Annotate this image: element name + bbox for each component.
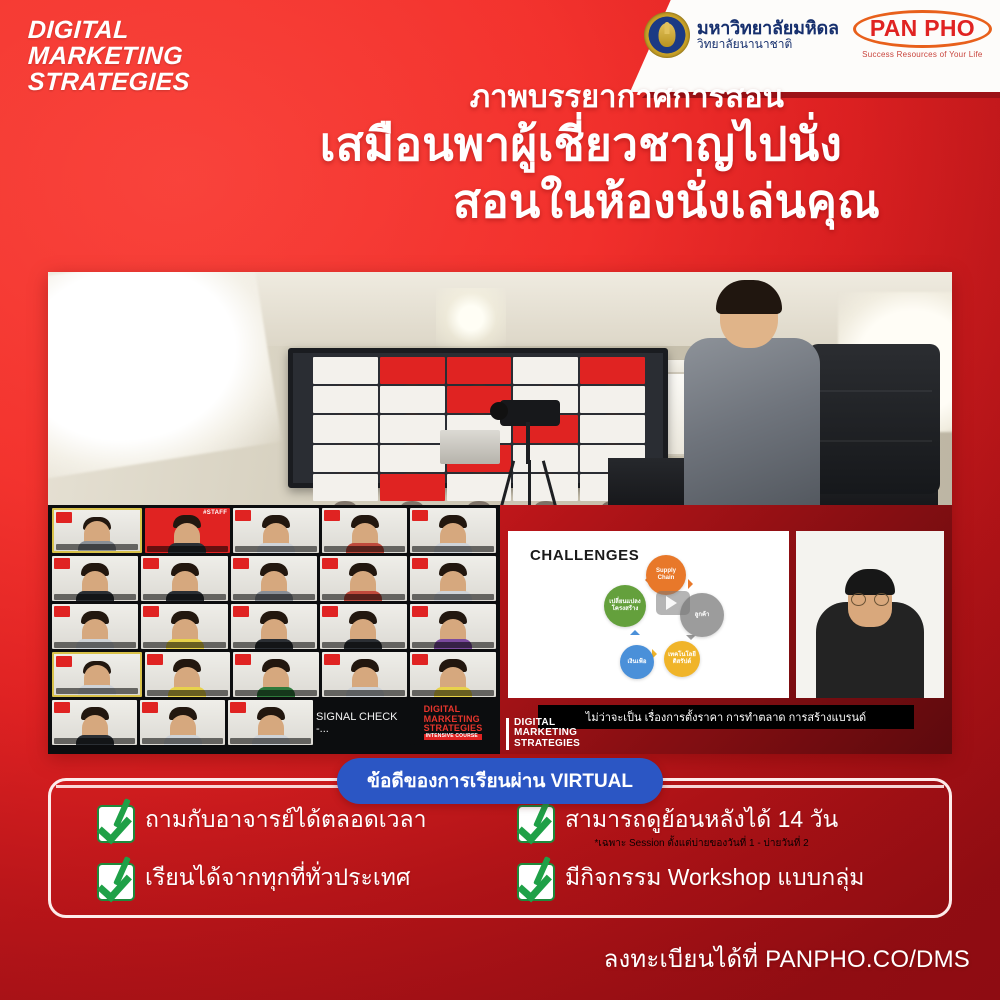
tile-nameplate [322,594,404,600]
instructor-hair [716,280,782,314]
tile-logo-tag [54,558,70,569]
tile-logo-tag [147,510,163,521]
watermark-line-2: MARKETING [514,727,577,738]
gallery-tile [140,700,225,745]
panpho-ellipse-icon: PAN PHO [853,10,992,48]
monitor-tile [313,445,378,472]
mahidol-sub-th: วิทยาลัยนานาชาติ [697,38,839,51]
gallery-tile [52,700,137,745]
tile-logo-tag [412,510,428,521]
check-icon [517,805,555,843]
monitor-tile [380,386,445,413]
mahidol-name: มหาวิทยาลัยมหิดล วิทยาลัยนานาชาติ [697,18,839,52]
tile-logo-tag [412,606,428,617]
tile-nameplate [54,594,136,600]
monitor-tile [313,386,378,413]
benefit-text: สามารถดูย้อนหลังได้ 14 วัน [565,803,838,834]
slide-subtitle: ไม่ว่าจะเป็น เรื่องการตั้งราคา การทำตลาด… [538,705,914,729]
tile-logo-tag [412,654,428,665]
tile-nameplate [142,738,223,744]
ceiling-light-icon [436,288,506,348]
bubble-inflation: เงินเฟ้อ [620,645,654,679]
tile-nameplate [412,690,494,696]
tile-logo-tag [54,606,70,617]
bubble-structural-change: เปลี่ยนแปลง โครงสร้าง [604,585,646,627]
benefit-text: มีกิจกรรม Workshop แบบกลุ่ม [565,861,864,892]
tile-logo-tag [143,606,159,617]
staff-tag: #STAFF [203,510,227,516]
tile-logo-tag [143,558,159,569]
tile-nameplate [56,544,138,550]
benefit-text: เรียนได้จากทุกที่ทั่วประเทศ [145,861,411,892]
promo-poster: DIGITAL MARKETING STRATEGIES มหาวิทยาลัย… [0,0,1000,1000]
tile-nameplate [412,546,494,552]
instructor-figure [678,280,833,505]
gallery-tile [52,508,142,553]
monitor-tile [313,474,378,501]
diagram-arrow [630,625,640,635]
registration-cta[interactable]: ลงทะเบียนได้ที่ PANPHO.CO/DMS [604,939,970,978]
tile-logo-tag [235,510,251,521]
benefit-note: *เฉพาะ Session ตั้งแต่บ่ายของวันที่ 1 - … [565,836,838,851]
diagram-arrow [688,579,698,589]
gallery-tile [233,508,319,553]
monitor-tile [380,357,445,384]
brand-line-1: DIGITAL [27,18,190,44]
gallery-tile [410,604,496,649]
tile-logo-tag [56,656,72,667]
tile-nameplate [233,594,315,600]
play-button-icon[interactable] [656,591,690,615]
gallery-tile [52,556,138,601]
gallery-tile [231,604,317,649]
tile-nameplate [54,738,135,744]
headline: ภาพบรรยากาศการสอน เสมือนพาผู้เชี่ยวชาญไป… [120,78,880,230]
gallery-tile: #STAFF [145,508,231,553]
tile-logo-tag [322,558,338,569]
instructor-body [684,338,820,505]
gallery-tile [410,508,496,553]
headline-line-1: ภาพบรรยากาศการสอน [120,78,880,116]
dms-tile-line-3: STRATEGIES [424,724,483,733]
monitor-tile [380,474,445,501]
gallery-tile [141,604,227,649]
gallery-tile [322,652,408,697]
benefits-grid: ถามกับอาจารย์ได้ตลอดเวลา สามารถดูย้อนหลั… [97,803,931,901]
tripod-leg [500,460,515,505]
tile-logo-tag [56,512,72,523]
tile-nameplate [235,546,317,552]
tile-nameplate [324,546,406,552]
bubble-supply-chain: Supply Chain [646,555,686,595]
signal-check-tile: SIGNAL CHECK -... [316,700,411,745]
monitor-tile [513,357,578,384]
panpho-logo: PAN PHO Success Resources of Your Life [853,10,992,59]
benefit-item: มีกิจกรรม Workshop แบบกลุ่ม [517,861,931,901]
dms-logo-tile: DIGITAL MARKETING STRATEGIES INTENSIVE C… [414,700,492,745]
tile-logo-tag [235,654,251,665]
gallery-tile [322,508,408,553]
gallery-tile [320,556,406,601]
mahidol-logo: มหาวิทยาลัยมหิดล วิทยาลัยนานาชาติ [644,12,839,58]
tile-nameplate [412,594,494,600]
tile-logo-tag [412,558,428,569]
tile-logo-tag [230,702,246,713]
monitor-tile [313,357,378,384]
gallery-tile [231,556,317,601]
tile-nameplate [54,642,136,648]
speaker-hair [845,569,895,595]
tile-logo-tag [324,654,340,665]
tile-nameplate [230,738,311,744]
gallery-tile [141,556,227,601]
gallery-row: #STAFF [52,508,496,553]
mahidol-seal-icon [644,12,690,58]
monitor-tile [580,386,645,413]
tile-nameplate [233,642,315,648]
gallery-tile [52,604,138,649]
headline-line-3: สอนในห้องนั่งเล่นคุณ [120,173,880,230]
benefits-badge: ข้อดีของการเรียนผ่าน VIRTUAL [337,758,663,804]
gallery-row [52,604,496,649]
speaker-glasses-icon [851,593,889,604]
gallery-tile [320,604,406,649]
check-icon [97,805,135,843]
gallery-row [52,652,496,697]
gallery-row: SIGNAL CHECK -... DIGITAL MARKETING STRA… [52,700,496,745]
tripod-leg [542,460,557,505]
webinar-slide-panel: CHALLENGES Supply Chain ลูกค้า เทคโนโลยี… [500,505,952,754]
tile-logo-tag [54,702,70,713]
photo-collage: #STAFF [48,272,952,754]
gallery-tile [228,700,313,745]
brand-line-2: MARKETING [27,44,190,70]
monitor-tile [580,415,645,442]
bubble-technology: เทคโนโลยี ดิสรัปต์ [664,641,700,677]
challenges-slide: CHALLENGES Supply Chain ลูกค้า เทคโนโลยี… [508,531,789,698]
mahidol-name-th: มหาวิทยาลัยมหิดล [697,18,839,38]
monitor-tile [380,415,445,442]
tile-logo-tag [324,510,340,521]
camera-tripod [478,400,564,505]
dms-tile-badge: INTENSIVE COURSE [424,734,483,739]
tile-logo-tag [233,558,249,569]
tile-logo-tag [233,606,249,617]
tile-nameplate [147,546,229,552]
tile-logo-tag [322,606,338,617]
tile-nameplate [412,642,494,648]
logo-group: มหาวิทยาลัยมหิดล วิทยาลัยนานาชาติ PAN PH… [644,10,992,59]
challenges-bubble-diagram: Supply Chain ลูกค้า เทคโนโลยี ดิสรัปต์ เ… [604,555,732,691]
gallery-tile [233,652,319,697]
tile-nameplate [147,690,229,696]
tile-nameplate [56,688,138,694]
tile-nameplate [143,642,225,648]
signal-check-label: SIGNAL CHECK -... [316,711,411,735]
gallery-tile [52,652,142,697]
dms-tile-wordmark: DIGITAL MARKETING STRATEGIES INTENSIVE C… [424,705,483,739]
check-icon [517,863,555,901]
tile-logo-tag [147,654,163,665]
gallery-row [52,556,496,601]
slide-watermark: DIGITAL MARKETING STRATEGIES [506,718,580,750]
speaker-video-tile [796,531,944,698]
studio-photo [48,272,952,505]
gallery-tile [410,556,496,601]
monitor-tile [313,415,378,442]
benefit-item: ถามกับอาจารย์ได้ตลอดเวลา [97,803,511,851]
benefit-text-wrap: สามารถดูย้อนหลังได้ 14 วัน *เฉพาะ Sessio… [565,803,838,851]
camera-icon [500,400,560,426]
gallery-tile [410,652,496,697]
monitor-tile [447,357,512,384]
watermark-line-3: STRATEGIES [514,738,580,749]
check-icon [97,863,135,901]
tile-nameplate [235,690,317,696]
tile-nameplate [143,594,225,600]
benefit-item: เรียนได้จากทุกที่ทั่วประเทศ [97,861,511,901]
panpho-tagline: Success Resources of Your Life [853,50,992,59]
benefit-text: ถามกับอาจารย์ได้ตลอดเวลา [145,803,427,834]
tripod-leg [528,460,531,505]
panpho-name: PAN PHO [870,15,975,41]
tile-nameplate [324,690,406,696]
headline-line-2: เสมือนพาผู้เชี่ยวชาญไปนั่ง [120,116,880,173]
monitor-tile [380,445,445,472]
gallery-tile [145,652,231,697]
monitor-tile [580,357,645,384]
tile-nameplate [322,642,404,648]
benefit-item: สามารถดูย้อนหลังได้ 14 วัน *เฉพาะ Sessio… [517,803,931,851]
tile-logo-tag [142,702,158,713]
watermark-line-1: DIGITAL [514,717,555,728]
tripod-rod [526,422,530,464]
zoom-gallery: #STAFF [48,505,500,754]
